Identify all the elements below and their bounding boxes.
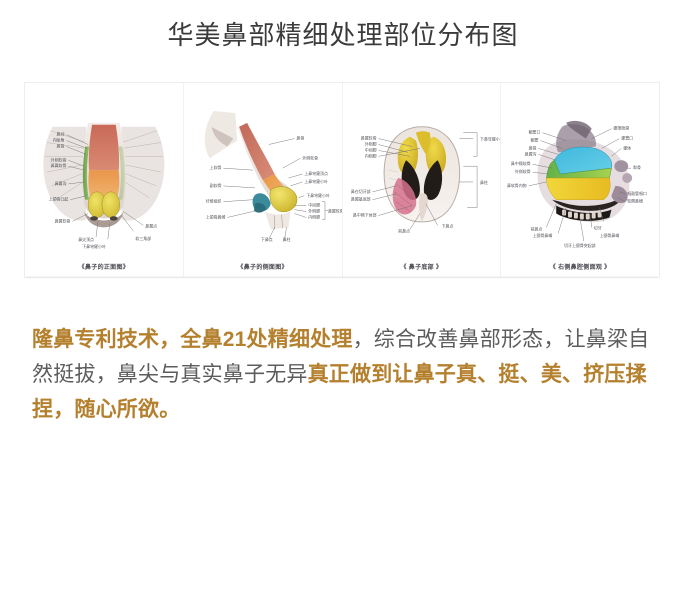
figure-row: 鼻间 内眦角 鼻骨 外侧软骨 鼻翼软骨 鼻翼沟 上颌骨凸起 鼻翼软骨 鼻尖顶点 … <box>25 83 659 277</box>
figure-nasal-cavity-view: 额窦口 额窦 鼻骨 鼻翼沟 鼻中隔软骨 外侧软骨 鼻软骨内物 蝶筛隐窝 蝶窦口 … <box>500 83 659 277</box>
svg-text:鼻翼软骨: 鼻翼软骨 <box>51 163 67 168</box>
nose-anatomy-diagram-strip: 鼻间 内眦角 鼻骨 外侧软骨 鼻翼软骨 鼻翼沟 上颌骨凸起 鼻翼软骨 鼻尖顶点 … <box>24 82 660 278</box>
svg-text:鼻柱: 鼻柱 <box>282 237 290 242</box>
svg-text:鼻骨: 鼻骨 <box>296 136 304 141</box>
figure-band-shadow <box>26 276 658 279</box>
svg-text:上颌骨鼻嵴: 上颌骨鼻嵴 <box>205 214 225 219</box>
svg-text:下鼻穹窿小叶: 下鼻穹窿小叶 <box>306 193 330 198</box>
figure-caption-nasal-cavity-view: 《 右侧鼻腔侧面观 》 <box>501 262 659 271</box>
svg-text:前鼻点: 前鼻点 <box>531 226 543 231</box>
svg-text:软三角部: 软三角部 <box>135 236 151 241</box>
copy-line1-plain: ，综合改善鼻部形态， <box>353 328 565 351</box>
svg-text:上颌骨鼻嵴: 上颌骨鼻嵴 <box>600 233 620 238</box>
svg-text:鼻在切牙部: 鼻在切牙部 <box>350 189 370 194</box>
svg-text:鼻翼基底部: 鼻翼基底部 <box>350 197 370 202</box>
svg-text:内眦角: 内眦角 <box>53 138 65 143</box>
svg-text:鼻翼沟: 鼻翼沟 <box>525 151 537 156</box>
svg-text:鼻间: 鼻间 <box>57 132 65 137</box>
svg-text:鼻翼软骨: 鼻翼软骨 <box>328 209 342 214</box>
svg-text:鼻骨: 鼻骨 <box>57 143 65 148</box>
base-view-illustration: 鼻翼软骨 外侧脚 中间脚 内侧脚 鼻在切牙部 鼻翼基底部 鼻中隔下体部 前鼻点 … <box>343 83 501 277</box>
figure-base-view: 鼻翼软骨 外侧脚 中间脚 内侧脚 鼻在切牙部 鼻翼基底部 鼻中隔下体部 前鼻点 … <box>342 83 501 277</box>
svg-text:外侧软骨: 外侧软骨 <box>302 155 318 160</box>
side-view-illustration: 上软骨 副软骨 纤维组织 上颌骨鼻嵴 鼻骨 外侧软骨 上鼻穹窿顶点 上鼻穹窿小叶… <box>184 83 342 277</box>
svg-text:外侧软骨: 外侧软骨 <box>51 157 67 162</box>
svg-text:蝶筛隐窝: 蝶筛隐窝 <box>614 126 630 131</box>
svg-text:咽鼓管咽口: 咽鼓管咽口 <box>627 191 647 196</box>
copy-line1-highlight: 隆鼻专利技术，全鼻21处精细处理 <box>32 328 353 351</box>
figure-caption-front-view: 《鼻子的正面图》 <box>25 262 183 271</box>
svg-text:内侧脚: 内侧脚 <box>308 214 320 219</box>
svg-text:鼻骨: 鼻骨 <box>529 145 537 150</box>
svg-text:下鼻穹窿小叶: 下鼻穹窿小叶 <box>480 137 501 142</box>
svg-text:内侧脚: 内侧脚 <box>364 153 376 158</box>
svg-text:鼻软骨内物: 鼻软骨内物 <box>507 183 527 188</box>
nasal-cavity-illustration: 额窦口 额窦 鼻骨 鼻翼沟 鼻中隔软骨 外侧软骨 鼻软骨内物 蝶筛隐窝 蝶窦口 … <box>501 83 659 277</box>
svg-text:外侧脚: 外侧脚 <box>364 141 376 146</box>
svg-text:上鼻穹窿小叶: 上鼻穹窿小叶 <box>304 179 328 184</box>
svg-text:上鼻穹窿顶点: 上鼻穹窿顶点 <box>304 171 328 176</box>
svg-text:外侧软骨: 外侧软骨 <box>515 169 531 174</box>
svg-text:切牙: 切牙 <box>594 225 602 230</box>
svg-text:纤维组织: 纤维组织 <box>205 199 221 204</box>
figure-caption-base-view: 《 鼻子底部 》 <box>343 262 501 271</box>
svg-text:额窦: 额窦 <box>531 138 539 143</box>
svg-text:上颌骨凸起: 上颌骨凸起 <box>49 197 69 202</box>
svg-text:下鼻穹窿小叶: 下鼻穹窿小叶 <box>82 244 106 249</box>
svg-text:上颌骨鼻嵴: 上颌骨鼻嵴 <box>533 233 553 238</box>
svg-text:蝶窦口: 蝶窦口 <box>622 136 634 141</box>
svg-text:鼻翼点: 鼻翼点 <box>145 223 157 228</box>
front-view-illustration: 鼻间 内眦角 鼻骨 外侧软骨 鼻翼软骨 鼻翼沟 上颌骨凸起 鼻翼软骨 鼻尖顶点 … <box>25 83 183 277</box>
svg-text:副软骨: 副软骨 <box>209 183 221 188</box>
page-title: 华美鼻部精细处理部位分布图 <box>0 16 686 54</box>
svg-text:犁骨: 犁骨 <box>633 165 641 170</box>
svg-text:鼻中隔软骨: 鼻中隔软骨 <box>511 161 531 166</box>
svg-text:鼻翼软骨: 鼻翼软骨 <box>55 218 71 223</box>
svg-text:切牙上颌骨突起部: 切牙上颌骨突起部 <box>564 243 596 248</box>
svg-text:下鼻点: 下鼻点 <box>441 223 453 228</box>
svg-text:上软骨: 上软骨 <box>209 165 221 170</box>
svg-text:前鼻点: 前鼻点 <box>398 228 410 233</box>
copy-line2-highlight: 真正做到让鼻子真、 <box>308 363 499 386</box>
promo-copy-block: 隆鼻专利技术，全鼻21处精细处理，综合改善鼻部形态，让鼻梁自然挺拔，鼻尖与真实鼻… <box>32 322 660 427</box>
svg-text:鼻中隔下体部: 鼻中隔下体部 <box>352 212 376 217</box>
figure-caption-side-view: 《鼻子的侧面图》 <box>184 262 342 271</box>
page-root: 华美鼻部精细处理部位分布图 <box>0 0 686 592</box>
svg-text:鼻尖顶点: 鼻尖顶点 <box>78 237 94 242</box>
figure-front-view: 鼻间 内眦角 鼻骨 外侧软骨 鼻翼软骨 鼻翼沟 上颌骨凸起 鼻翼软骨 鼻尖顶点 … <box>25 83 183 277</box>
svg-text:外侧脚: 外侧脚 <box>308 209 320 214</box>
svg-text:下鼻点: 下鼻点 <box>261 237 273 242</box>
svg-text:蝶体: 蝶体 <box>624 145 632 150</box>
svg-text:软腭鼻嵴: 软腭鼻嵴 <box>627 199 643 204</box>
svg-text:中间脚: 中间脚 <box>308 203 320 208</box>
figure-side-view: 上软骨 副软骨 纤维组织 上颌骨鼻嵴 鼻骨 外侧软骨 上鼻穹窿顶点 上鼻穹窿小叶… <box>183 83 342 277</box>
svg-text:中间脚: 中间脚 <box>364 147 376 152</box>
svg-text:鼻翼软骨: 鼻翼软骨 <box>360 136 376 141</box>
svg-text:鼻翼沟: 鼻翼沟 <box>55 181 67 186</box>
svg-text:额窦口: 额窦口 <box>529 130 541 135</box>
svg-text:鼻柱: 鼻柱 <box>480 180 488 185</box>
